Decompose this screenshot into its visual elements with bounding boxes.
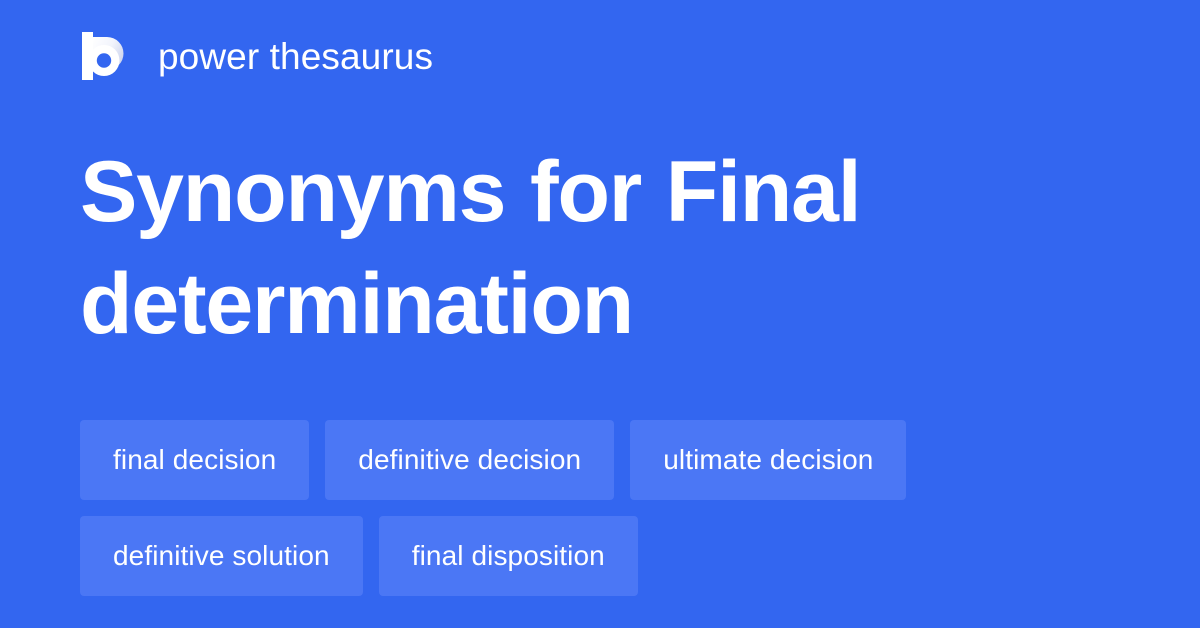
- brand-header: power thesaurus: [80, 30, 433, 82]
- power-thesaurus-logo-icon: [80, 30, 132, 82]
- synonym-row: final decision definitive decision ultim…: [80, 420, 1120, 500]
- synonym-tag-list: final decision definitive decision ultim…: [80, 420, 1120, 596]
- synonym-tag[interactable]: final disposition: [379, 516, 638, 596]
- synonym-tag[interactable]: ultimate decision: [630, 420, 906, 500]
- synonym-tag[interactable]: definitive decision: [325, 420, 614, 500]
- synonym-row: definitive solution final disposition: [80, 516, 1120, 596]
- synonym-tag[interactable]: definitive solution: [80, 516, 363, 596]
- synonym-tag[interactable]: final decision: [80, 420, 309, 500]
- page-title: Synonyms for Final determination: [80, 136, 1100, 360]
- share-card: power thesaurus Synonyms for Final deter…: [0, 0, 1200, 628]
- brand-name: power thesaurus: [158, 38, 433, 75]
